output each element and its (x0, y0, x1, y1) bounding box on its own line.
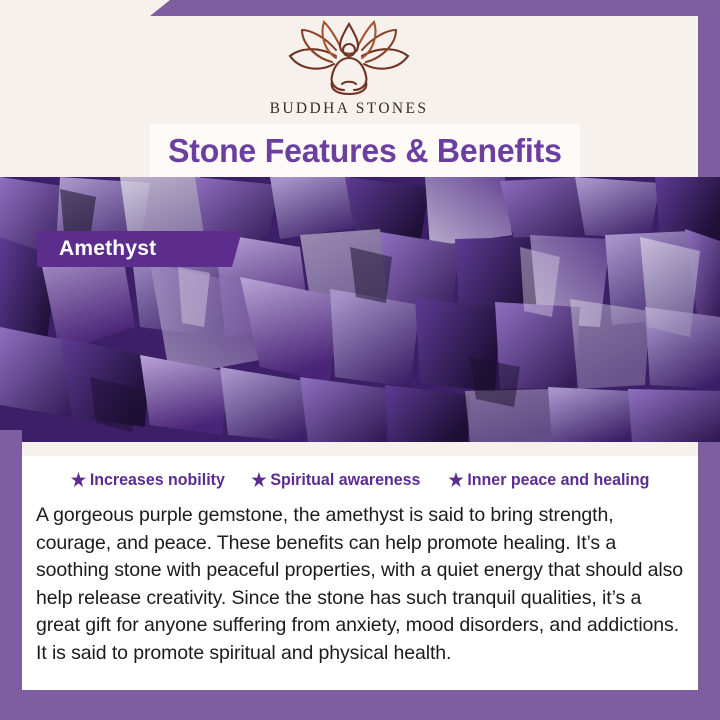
benefit-item-3: ★ Inner peace and healing (448, 470, 649, 490)
benefit-item-1: ★ Increases nobility (71, 470, 225, 490)
brand-name: BUDDHA STONES (270, 100, 429, 118)
content-panel: ★ Increases nobility ★ Spiritual awarene… (22, 456, 698, 690)
header: BUDDHA STONES Stone Features & Benefits (0, 16, 698, 177)
star-icon: ★ (448, 471, 463, 489)
stone-description: A gorgeous purple gemstone, the amethyst… (36, 502, 686, 667)
infographic-poster: BUDDHA STONES Stone Features & Benefits (0, 0, 720, 720)
star-icon: ★ (251, 471, 266, 489)
stone-label-banner: Amethyst (37, 231, 242, 267)
benefit-label-3: Inner peace and healing (467, 470, 649, 490)
page-title: Stone Features & Benefits (168, 132, 562, 170)
benefits-row: ★ Increases nobility ★ Spiritual awarene… (36, 470, 686, 490)
benefit-label-1: Increases nobility (90, 470, 225, 490)
top-purple-band (150, 0, 720, 16)
left-purple-strip (0, 430, 22, 720)
hero-image (0, 177, 720, 442)
benefit-item-2: ★ Spiritual awareness (251, 470, 420, 490)
star-icon: ★ (71, 471, 86, 489)
page-title-box: Stone Features & Benefits (150, 124, 580, 177)
panel-top-gap (22, 442, 698, 456)
amethyst-crystal-cluster-photo (0, 177, 720, 442)
lotus-meditation-icon (274, 20, 424, 96)
brand-logo: BUDDHA STONES (0, 20, 698, 118)
benefit-label-2: Spiritual awareness (270, 470, 420, 490)
stone-label: Amethyst (59, 237, 156, 261)
